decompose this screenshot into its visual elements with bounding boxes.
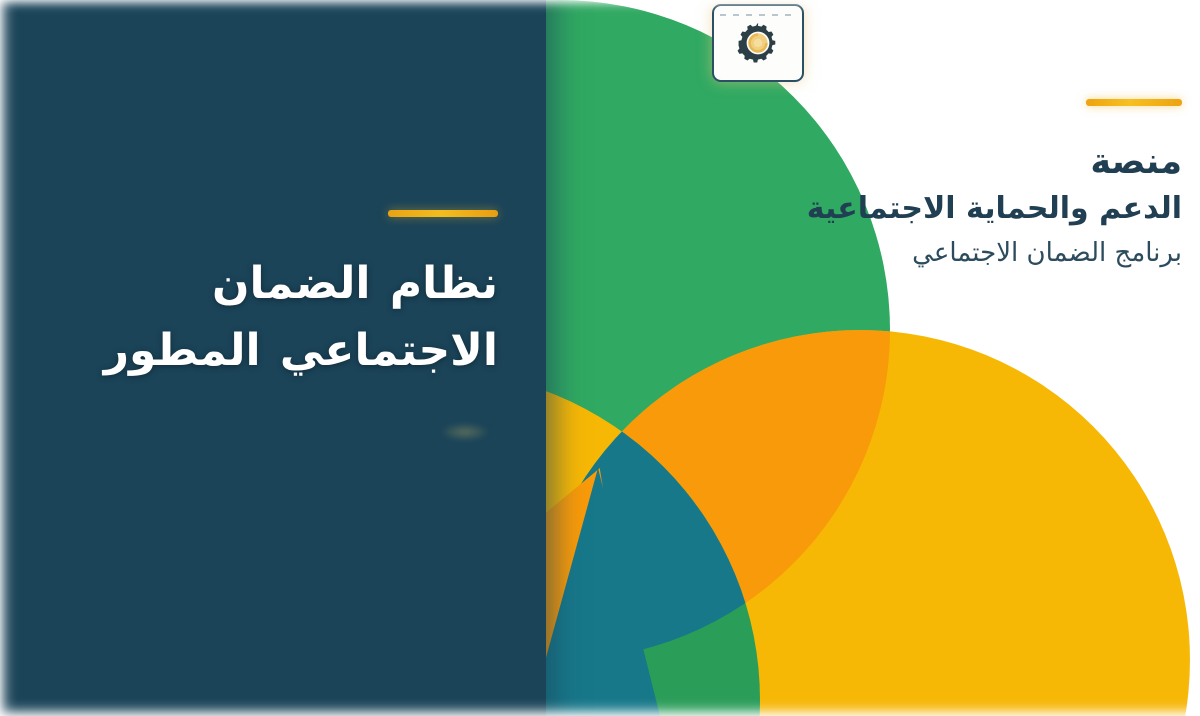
gear-icon [736,21,780,65]
brand-line-1: منصة [712,142,1182,183]
brand-gold-underline [1086,99,1182,106]
brand-line-2: الدعم والحماية الاجتماعية [712,191,1182,228]
gold-accent-rule [388,210,498,217]
headline-block: نظام الضمان الاجتماعي المطور [78,210,498,385]
brand-logo[interactable] [712,4,1182,82]
banner-stage: نظام الضمان الاجتماعي المطور منصة الدعم … [0,0,1200,716]
brand-lockup: منصة الدعم والحماية الاجتماعية برنامج ال… [712,4,1182,269]
page-title: نظام الضمان الاجتماعي المطور [78,251,498,385]
screen-frame-icon [712,4,804,82]
brand-line-3: برنامج الضمان الاجتماعي [712,237,1182,269]
